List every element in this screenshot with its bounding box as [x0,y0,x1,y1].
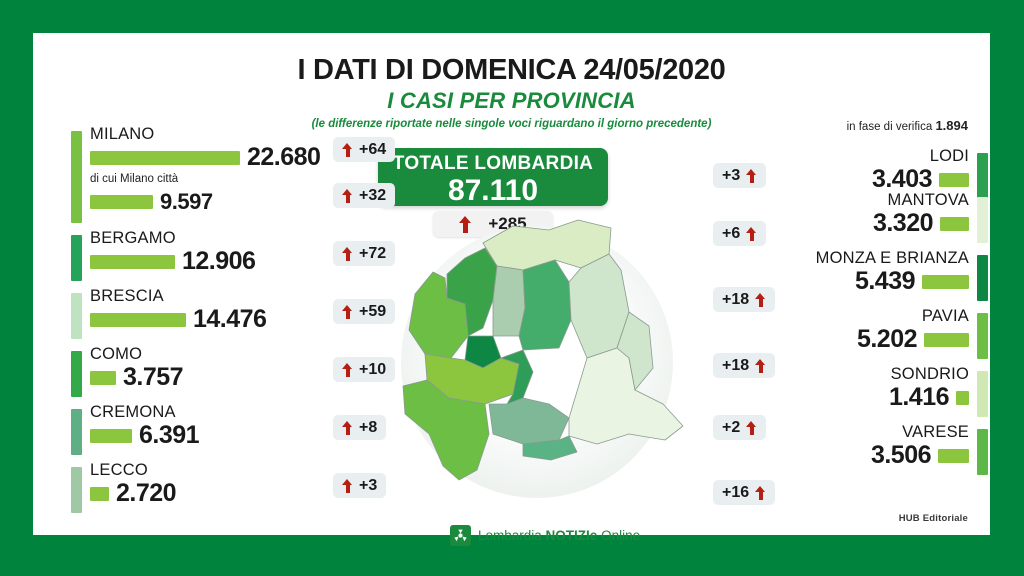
delta-value-como: +10 [359,361,386,379]
province-name-como: COMO [90,345,142,364]
province-row-pavia: PAVIA 5.202 [688,307,988,365]
province-name-pavia: PAVIA [922,307,969,326]
logo-text-part2: NOTIZIe [546,528,598,543]
province-value-row-brescia: 14.476 [90,305,266,334]
map-region-mantova [569,348,683,444]
logo-text-part3: Online [597,528,640,543]
province-row-monza: MONZA E BRIANZA 5.439 [688,249,988,307]
province-value-row-varese: 3.506 [871,441,969,470]
delta-badge-milano-citta: +32 [333,183,395,208]
province-row-brescia: BRESCIA 14.476 [71,287,331,345]
province-swatch-mantova [977,197,988,243]
province-value-row-milano-citta: 9.597 [90,189,213,215]
province-row-como: COMO 3.757 [71,345,331,403]
province-bar-lecco [90,487,109,501]
province-row-milano: MILANO 22.680 di cui Milano città 9.597 [71,125,331,229]
province-swatch-bergamo [71,235,82,281]
province-value-lecco: 2.720 [116,479,176,508]
province-value-row-pavia: 5.202 [857,325,969,354]
province-value-lodi: 3.403 [872,165,932,194]
delta-badge-lecco: +3 [333,473,386,498]
delta-value-milano-citta: +32 [359,187,386,205]
province-bar-lodi [939,173,969,187]
delta-value-brescia: +59 [359,303,386,321]
province-bar-cremona [90,429,132,443]
province-bar-milano-citta [90,195,153,209]
province-swatch-lecco [71,467,82,513]
delta-badge-como: +10 [333,357,395,382]
province-value-row-como: 3.757 [90,363,183,392]
province-value-row-lecco: 2.720 [90,479,176,508]
province-value-bergamo: 12.906 [182,247,255,276]
province-value-milano-citta: 9.597 [160,189,213,215]
province-row-cremona: CREMONA 6.391 [71,403,331,461]
province-swatch-como [71,351,82,397]
province-swatch-sondrio [977,371,988,417]
delta-value-cremona: +8 [359,419,377,437]
province-name-monza: MONZA E BRIANZA [816,249,969,268]
delta-badge-brescia: +59 [333,299,395,324]
province-bar-sondrio [956,391,969,405]
logo-text-part1: Lombardia [478,528,546,543]
province-value-row-bergamo: 12.906 [90,247,255,276]
province-name-varese: VARESE [902,423,969,442]
page-title: I DATI DI DOMENICA 24/05/2020 [33,55,990,85]
province-name-bergamo: BERGAMO [90,229,176,248]
province-name-lecco: LECCO [90,461,148,480]
arrow-up-icon [342,143,353,157]
delta-value-bergamo: +72 [359,245,386,263]
delta-value-varese: +16 [722,484,749,502]
province-bar-pavia [924,333,969,347]
page-subtitle: I CASI PER PROVINCIA [33,88,990,114]
province-value-monza: 5.439 [855,267,915,296]
province-row-mantova: MANTOVA 3.320 [688,191,988,249]
province-value-pavia: 5.202 [857,325,917,354]
province-swatch-pavia [977,313,988,359]
province-name-cremona: CREMONA [90,403,176,422]
map-region-cremona [489,398,569,444]
province-swatch-monza [977,255,988,301]
province-row-lecco: LECCO 2.720 [71,461,331,519]
province-bar-varese [938,449,969,463]
map-svg [373,208,703,528]
lombardia-notizie-logo[interactable]: Lombardia NOTIZIe Online [450,525,640,546]
province-row-lodi: LODI 3.403 [688,125,988,191]
province-value-row-mantova: 3.320 [873,209,969,238]
province-value-row-cremona: 6.391 [90,421,199,450]
white-panel: I DATI DI DOMENICA 24/05/2020 I CASI PER… [33,33,990,535]
province-value-row-milano: 22.680 [90,143,320,172]
logo-text: Lombardia NOTIZIe Online [478,528,640,543]
total-value: 87.110 [378,176,608,206]
province-value-como: 3.757 [123,363,183,392]
arrow-up-icon [342,189,353,203]
province-row-varese: VARESE 3.506 [688,423,988,481]
province-value-brescia: 14.476 [193,305,266,334]
arrow-up-icon [342,363,353,377]
right-province-column: LODI 3.403 MANTOVA 3.320 MONZA E BRIANZA [688,125,988,481]
delta-value-milano: +64 [359,141,386,159]
delta-badge-varese: +16 [713,480,775,505]
province-swatch-milano [71,131,82,223]
province-row-bergamo: BERGAMO 12.906 [71,229,331,287]
province-bar-como [90,371,116,385]
province-sublabel-milano-citta: di cui Milano città [90,173,178,185]
province-value-row-sondrio: 1.416 [889,383,969,412]
arrow-up-icon [342,479,353,493]
province-bar-brescia [90,313,186,327]
province-bar-monza [922,275,969,289]
logo-flower-icon [450,525,471,546]
total-lombardia-box: TOTALE LOMBARDIA 87.110 [378,148,608,206]
province-swatch-brescia [71,293,82,339]
province-value-row-monza: 5.439 [855,267,969,296]
province-bar-milano [90,151,240,165]
province-swatch-varese [977,429,988,475]
delta-badge-cremona: +8 [333,415,386,440]
arrow-up-icon [755,486,766,500]
province-name-sondrio: SONDRIO [891,365,969,384]
arrow-up-icon [342,247,353,261]
province-name-brescia: BRESCIA [90,287,164,306]
province-bar-bergamo [90,255,175,269]
total-label: TOTALE LOMBARDIA [378,148,608,175]
province-value-milano: 22.680 [247,143,320,172]
arrow-up-icon [342,421,353,435]
delta-value-lecco: +3 [359,477,377,495]
delta-badge-bergamo: +72 [333,241,395,266]
delta-badge-milano: +64 [333,137,395,162]
map-region-bergamo [519,260,571,350]
province-value-cremona: 6.391 [139,421,199,450]
province-bar-mantova [940,217,969,231]
province-row-sondrio: SONDRIO 1.416 [688,365,988,423]
arrow-up-icon [342,305,353,319]
province-value-mantova: 3.320 [873,209,933,238]
province-value-sondrio: 1.416 [889,383,949,412]
province-name-milano: MILANO [90,125,154,144]
province-value-varese: 3.506 [871,441,931,470]
province-name-lodi: LODI [930,147,969,166]
province-value-row-lodi: 3.403 [872,165,969,194]
map-region-lecco [493,266,525,336]
lombardy-map [373,208,703,528]
left-province-column: MILANO 22.680 di cui Milano città 9.597 … [71,125,331,519]
province-swatch-cremona [71,409,82,455]
infographic-root: I DATI DI DOMENICA 24/05/2020 I CASI PER… [0,0,1024,576]
province-name-mantova: MANTOVA [888,191,969,210]
credit-label: HUB Editoriale [899,513,968,524]
